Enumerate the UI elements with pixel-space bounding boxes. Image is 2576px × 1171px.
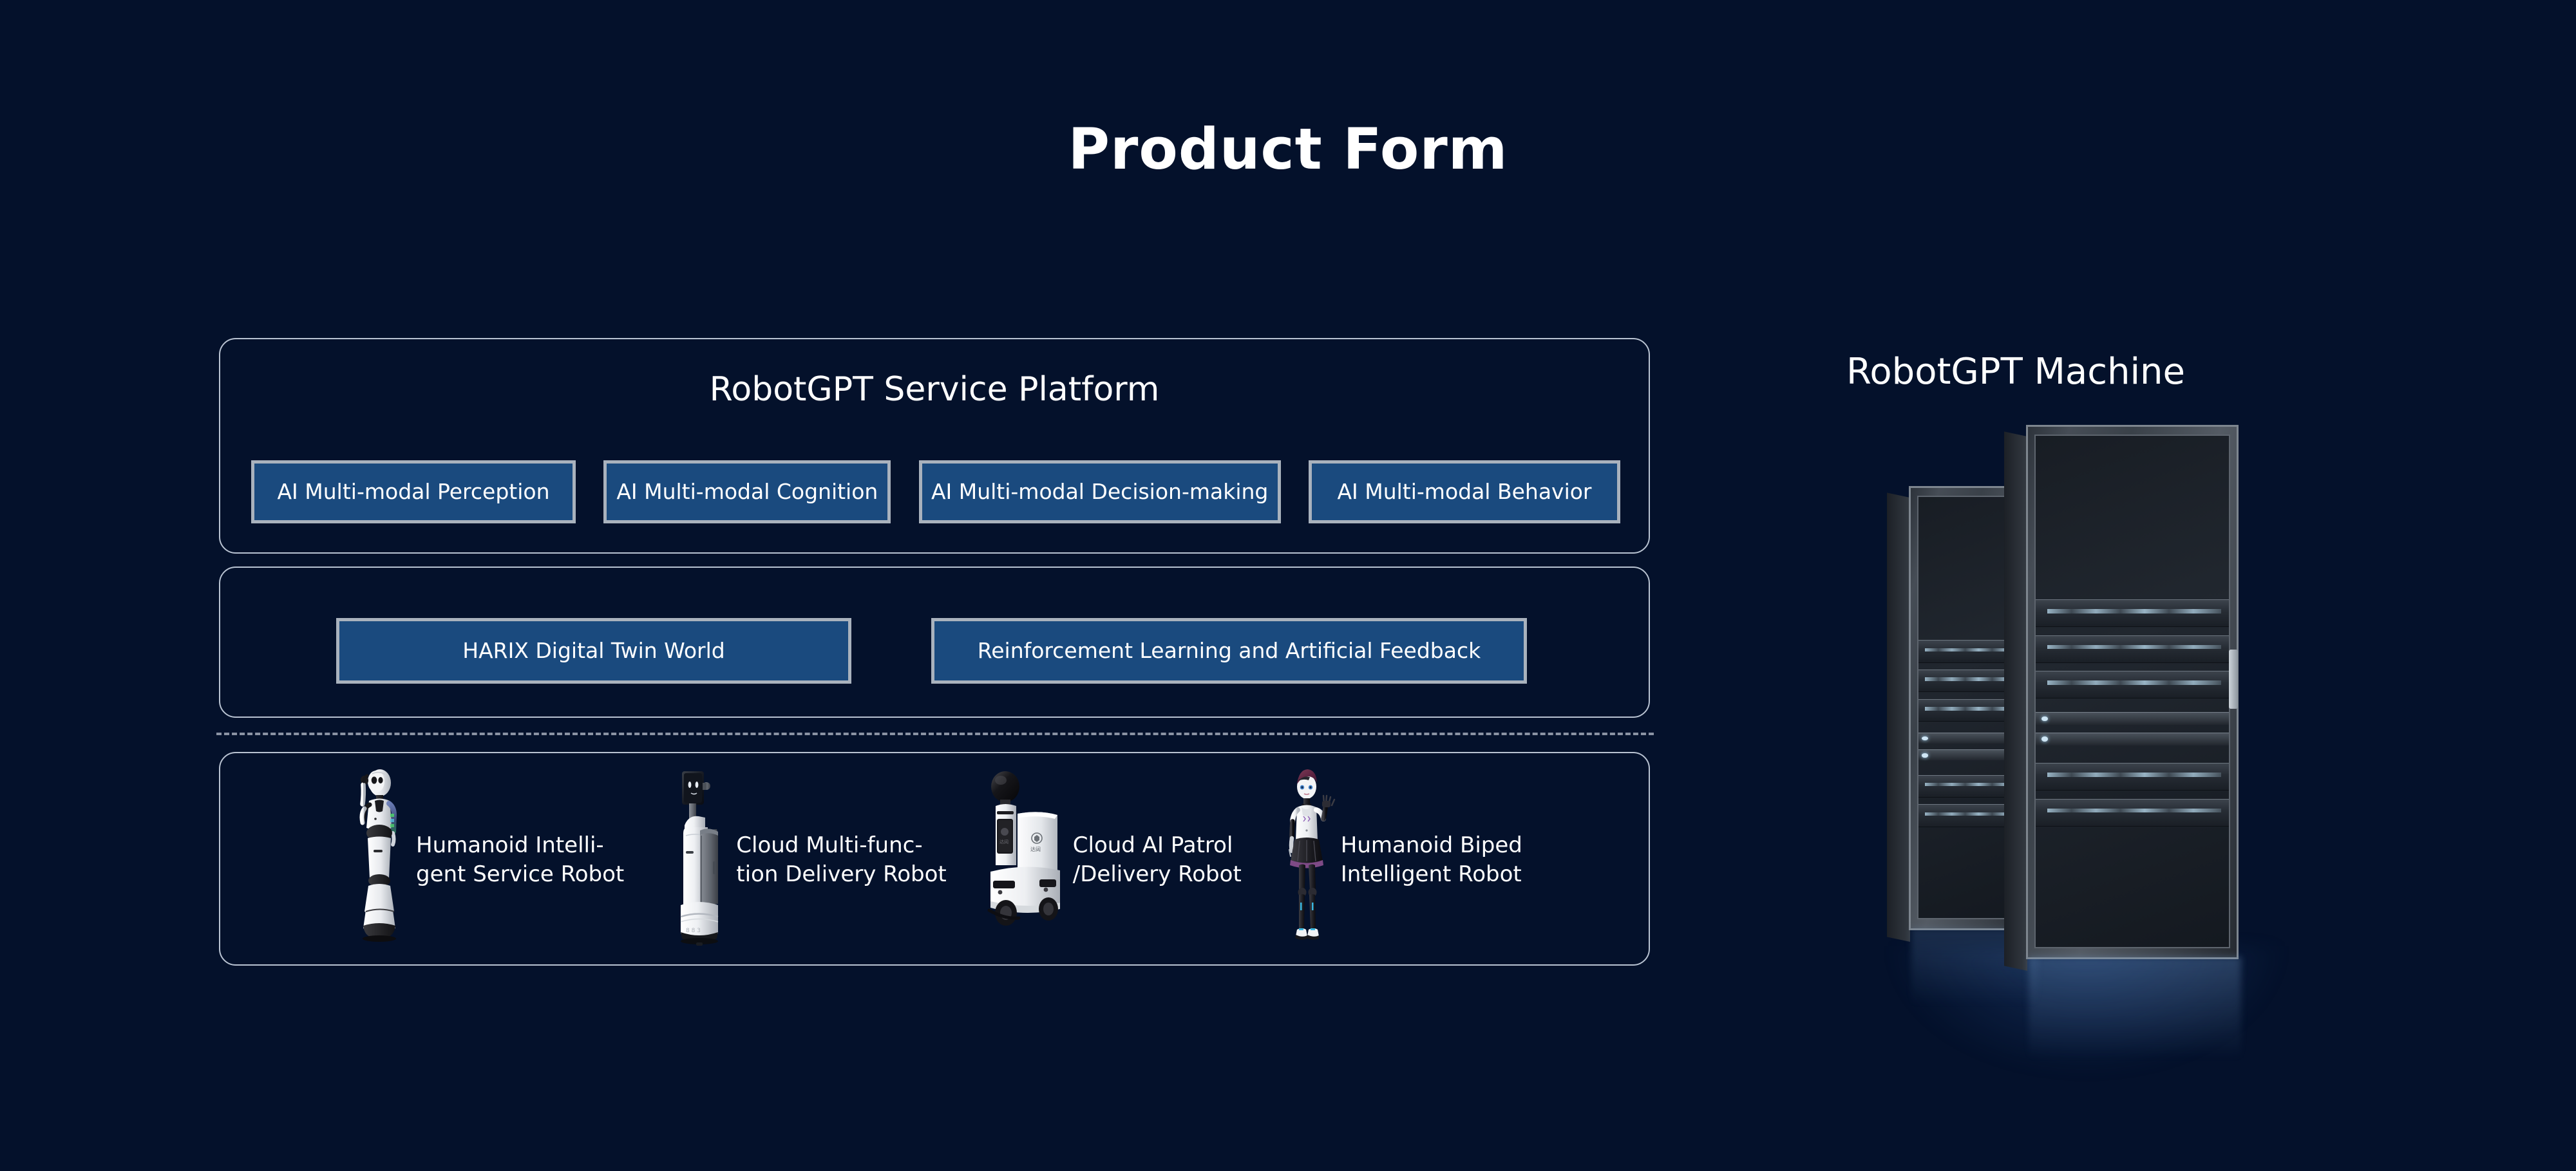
- foundation-button-reinforcement-learning[interactable]: Reinforcement Learning and Artificial Fe…: [931, 618, 1527, 684]
- list-item[interactable]: 达闼 达闼: [984, 754, 1242, 966]
- robot-list: Humanoid Intelli- gent Service Robot: [220, 754, 1649, 966]
- robot-label: Cloud Multi-func- tion Delivery Robot: [736, 831, 947, 889]
- foundation-button-harix-digital-twin-world[interactable]: HARIX Digital Twin World: [336, 618, 851, 684]
- server-rack-primary: [2026, 425, 2239, 959]
- foundation-button-row: HARIX Digital Twin World Reinforcement L…: [336, 618, 1547, 684]
- capability-button-cognition[interactable]: AI Multi-modal Cognition: [603, 460, 891, 523]
- svg-text:8 8 3: 8 8 3: [686, 928, 701, 934]
- robot-label: Humanoid Intelli- gent Service Robot: [416, 831, 624, 889]
- robot-label: Cloud AI Patrol /Delivery Robot: [1073, 831, 1242, 889]
- humanoid-biped-robot-icon: [1278, 763, 1336, 957]
- foundation-panel: HARIX Digital Twin World Reinforcement L…: [219, 567, 1650, 718]
- capability-button-perception[interactable]: AI Multi-modal Perception: [251, 460, 576, 523]
- capability-button-decision-making[interactable]: AI Multi-modal Decision-making: [919, 460, 1281, 523]
- list-item[interactable]: Humanoid Biped Intelligent Robot: [1278, 754, 1522, 966]
- rack-side-panel: [1887, 492, 1910, 942]
- page-title: Product Form: [0, 116, 2576, 182]
- platform-panel-title: RobotGPT Service Platform: [220, 370, 1649, 409]
- svg-text:达闼: 达闼: [999, 839, 1009, 845]
- robotgpt-service-platform-panel: RobotGPT Service Platform AI Multi-modal…: [219, 338, 1650, 554]
- section-divider: [216, 733, 1654, 735]
- machine-section-title: RobotGPT Machine: [1739, 351, 2293, 393]
- cloud-delivery-robot-icon: 8 8 3: [667, 763, 731, 957]
- rack-side-panel: [2004, 431, 2027, 971]
- robot-label: Humanoid Biped Intelligent Robot: [1341, 831, 1522, 889]
- capability-button-row: AI Multi-modal Perception AI Multi-modal…: [251, 460, 1620, 523]
- humanoid-service-robot-icon: [346, 763, 411, 957]
- rack-body: [2026, 425, 2239, 959]
- server-rack-icon: [1906, 425, 2254, 1004]
- svg-text:达闼: 达闼: [1030, 846, 1041, 852]
- slide-canvas: Product Form RobotGPT Service Platform A…: [0, 0, 2576, 1171]
- list-item[interactable]: Humanoid Intelli- gent Service Robot: [346, 754, 624, 966]
- rack-glass-door: [2034, 435, 2230, 948]
- rack-reflection-primary: [2029, 957, 2241, 1060]
- robot-products-panel: Humanoid Intelli- gent Service Robot: [219, 752, 1650, 966]
- cloud-patrol-robot-icon: 达闼 达闼: [984, 763, 1068, 957]
- rack-door-handle[interactable]: [2229, 650, 2238, 709]
- capability-button-behavior[interactable]: AI Multi-modal Behavior: [1309, 460, 1620, 523]
- list-item[interactable]: 8 8 3 Cloud Multi-func- tion Delivery Ro…: [667, 754, 947, 966]
